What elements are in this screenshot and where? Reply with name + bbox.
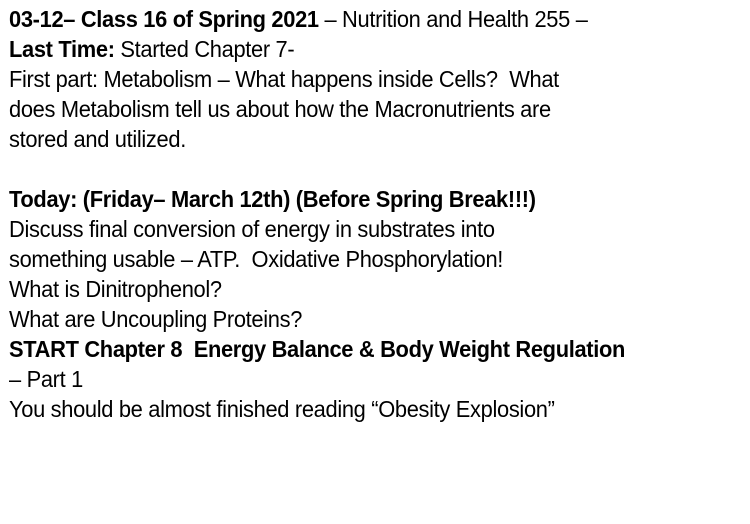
last-time-line-run-0: Last Time: [9,36,115,62]
today-heading-line: Today: (Friday– March 12th) (Before Spri… [9,184,740,214]
course-heading-line: 03-12– Class 16 of Spring 2021 – Nutriti… [9,4,740,34]
today-block: Today: (Friday– March 12th) (Before Spri… [9,184,744,424]
start-chapter8-line-run-0: START Chapter 8 Energy Balance & Body We… [9,336,625,362]
last-time-line-run-1: Started Chapter 7- [115,36,295,62]
part-1-line-run-0: – Part 1 [9,366,83,392]
stored-utilized-line-run-0: stored and utilized. [9,126,186,152]
uncoupling-proteins-line-run-0: What are Uncoupling Proteins? [9,306,302,332]
discuss-line: Discuss final conversion of energy in su… [9,214,740,244]
reading-line-run-0: You should be almost finished reading “O… [9,396,555,422]
last-time-line: Last Time: Started Chapter 7- [9,34,740,64]
course-heading-line-run-1: – Nutrition and Health 255 – [319,6,588,32]
slide-text-content: 03-12– Class 16 of Spring 2021 – Nutriti… [9,4,744,424]
uncoupling-proteins-line: What are Uncoupling Proteins? [9,304,740,334]
first-part-line-run-0: First part: Metabolism – What happens in… [9,66,559,92]
metabolism-line: does Metabolism tell us about how the Ma… [9,94,740,124]
atp-line: something usable – ATP. Oxidative Phosph… [9,244,740,274]
reading-line: You should be almost finished reading “O… [9,394,740,424]
course-heading-line-run-0: 03-12– Class 16 of Spring 2021 [9,6,319,32]
first-part-line: First part: Metabolism – What happens in… [9,64,740,94]
last-time-block: 03-12– Class 16 of Spring 2021 – Nutriti… [9,4,744,154]
atp-line-run-0: something usable – ATP. Oxidative Phosph… [9,246,503,272]
discuss-line-run-0: Discuss final conversion of energy in su… [9,216,495,242]
dinitrophenol-line: What is Dinitrophenol? [9,274,740,304]
blank-separator-block [9,154,744,184]
metabolism-line-run-0: does Metabolism tell us about how the Ma… [9,96,551,122]
stored-utilized-line: stored and utilized. [9,124,740,154]
dinitrophenol-line-run-0: What is Dinitrophenol? [9,276,222,302]
blank-line [9,154,740,184]
slide-canvas: 03-12– Class 16 of Spring 2021 – Nutriti… [0,0,750,524]
blank-line-run-0 [9,156,15,182]
part-1-line: – Part 1 [9,364,740,394]
today-heading-line-run-0: Today: (Friday– March 12th) (Before Spri… [9,186,536,212]
start-chapter8-line: START Chapter 8 Energy Balance & Body We… [9,334,740,364]
